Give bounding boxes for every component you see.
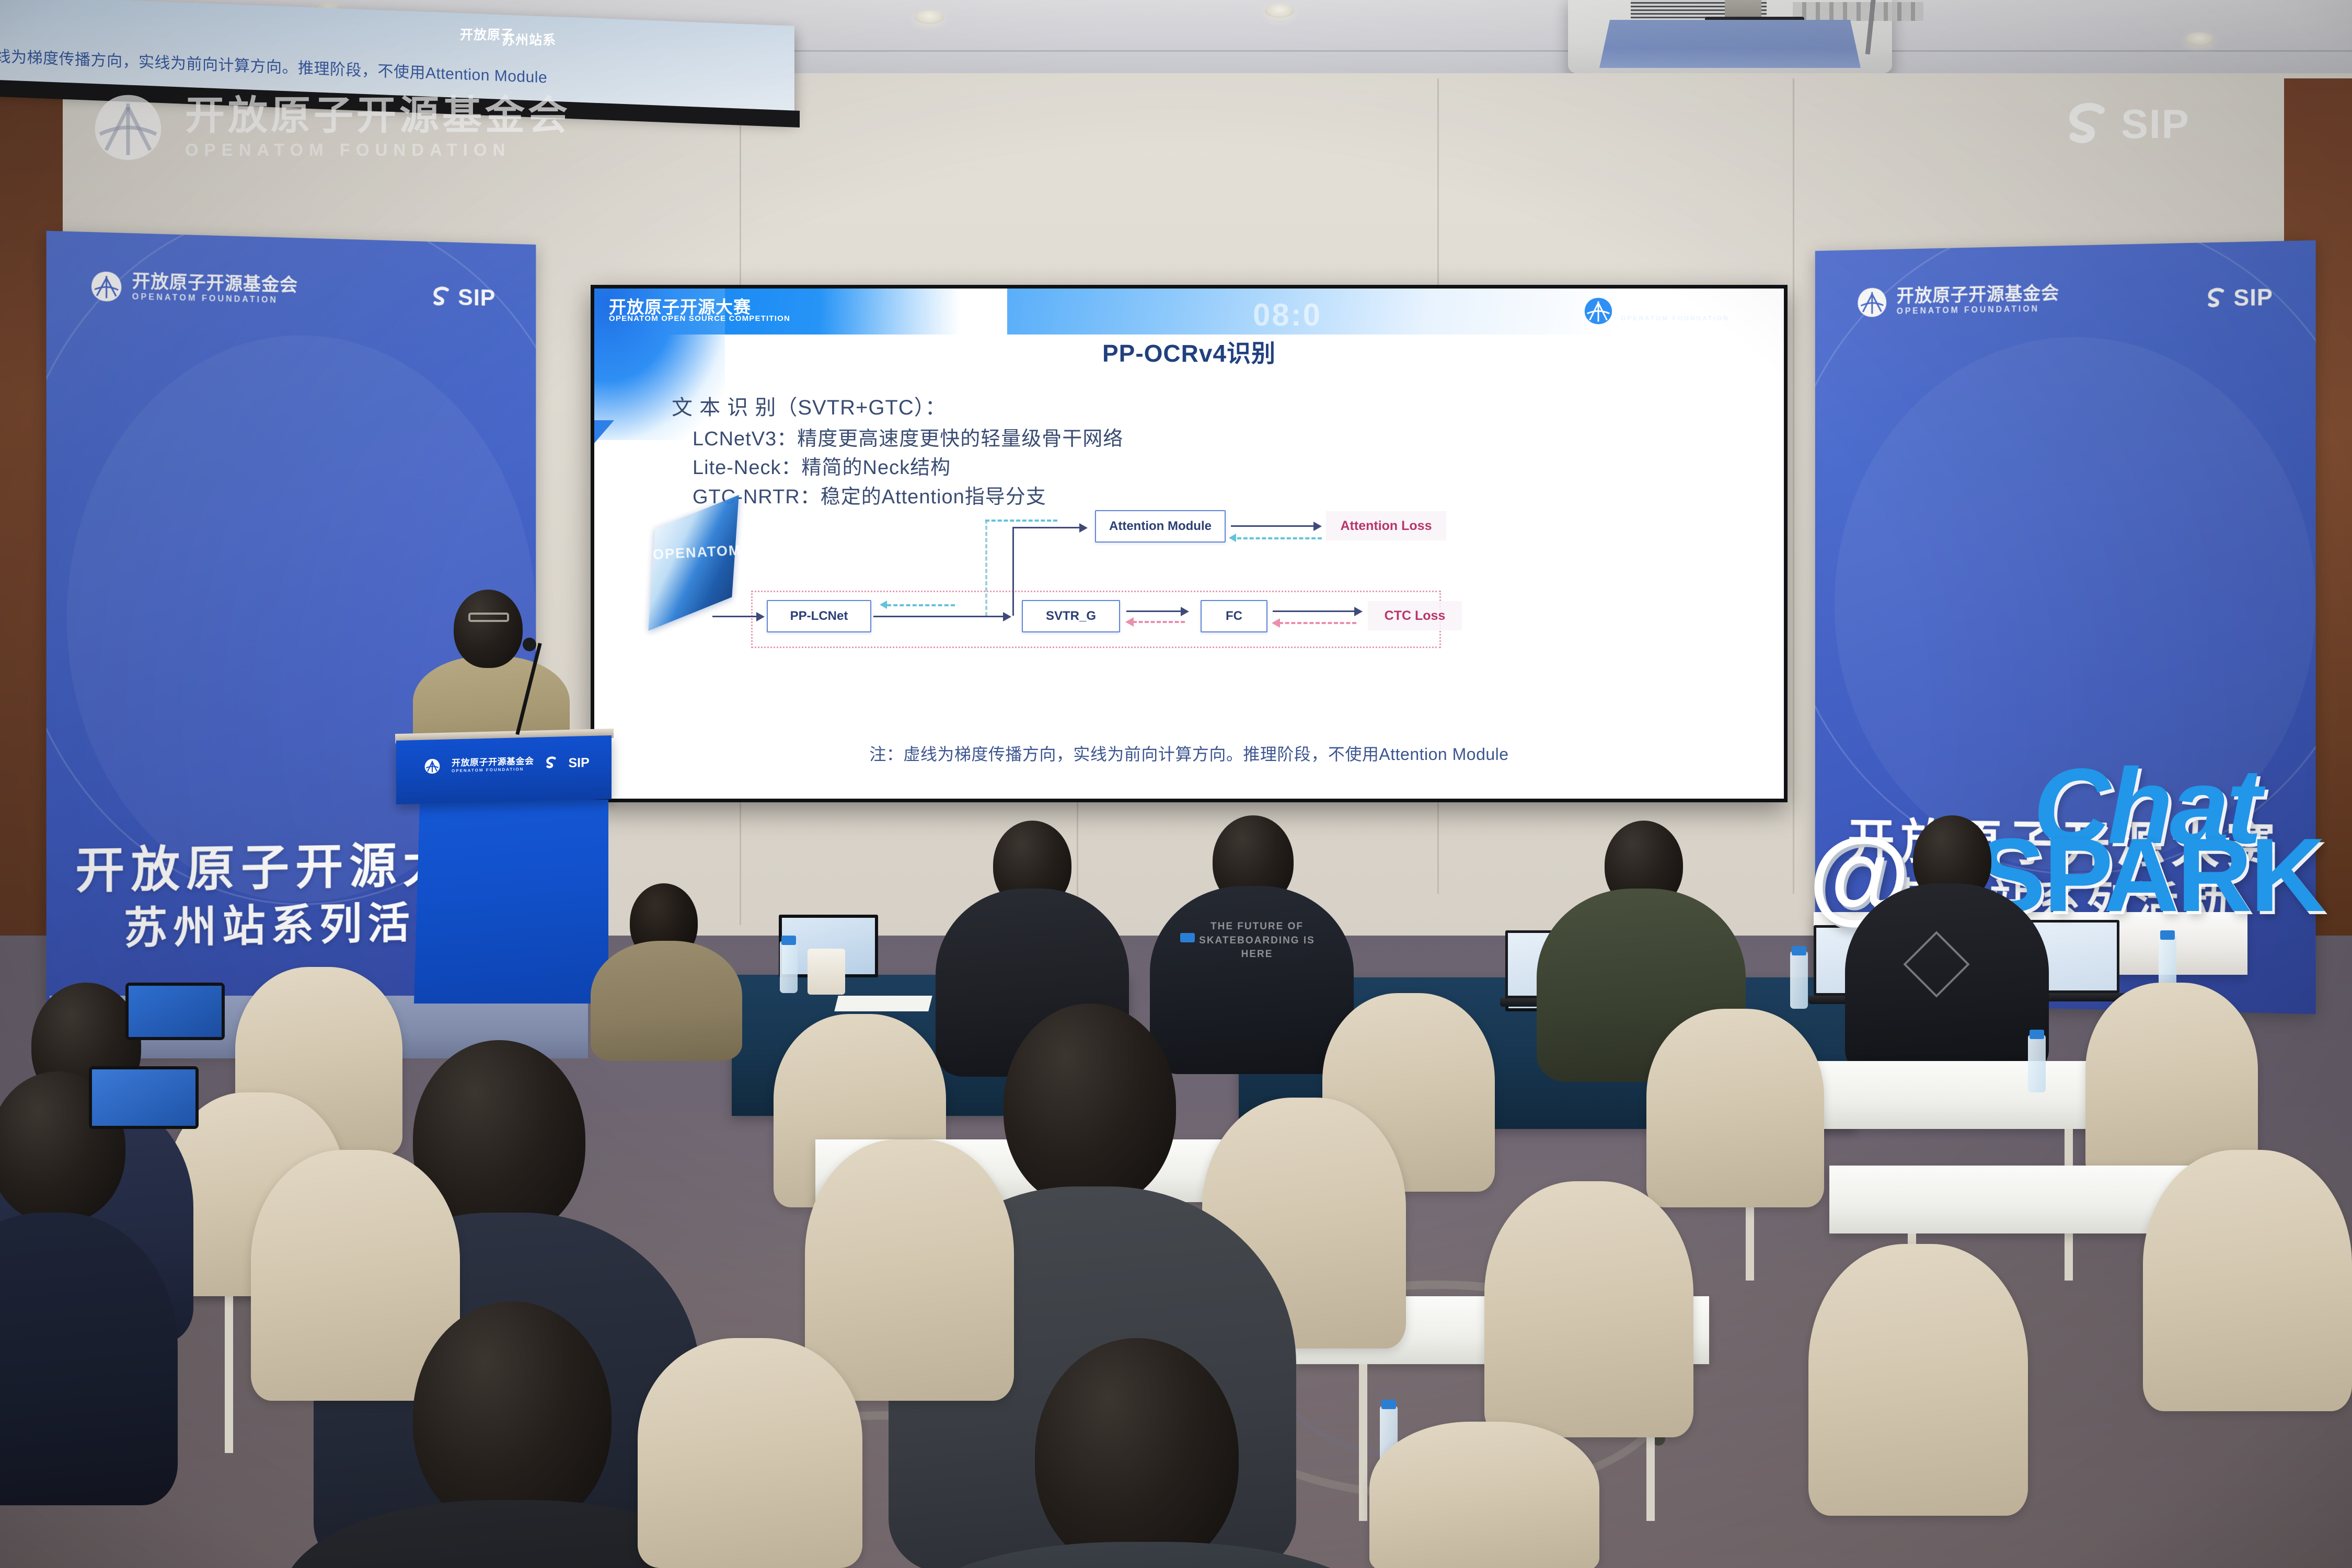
podium-vertical-text-right: 苏州站系 [502, 32, 556, 49]
table-leg [1359, 1364, 1367, 1521]
bottle-cap [2030, 1030, 2044, 1039]
openatom-logo-icon [423, 757, 441, 776]
speaker-glasses-icon [468, 613, 509, 622]
diagram-box-svtr-g: SVTR_G [1022, 600, 1120, 632]
watermark-sip: SIP [2065, 99, 2190, 149]
ceiling-projector [1568, 0, 1892, 73]
table-leg [225, 1296, 233, 1453]
diagram-gradient-path-pink [1133, 621, 1185, 623]
audience-shirt-text: THE FUTURE OF SKATEBOARDING IS HERE [1197, 920, 1317, 962]
shirt-text-line1: THE FUTURE OF [1197, 920, 1317, 934]
audience-body [1150, 886, 1354, 1074]
chair [1369, 1422, 1599, 1568]
diagram-gradient-path [985, 520, 987, 616]
chair [638, 1338, 862, 1568]
diagram-gradient-arrow [1229, 534, 1236, 542]
banner-right-logo: 开放原子开源基金会 OPENATOM FOUNDATION [1856, 282, 2059, 319]
slide-logo-en: OPENATOM FOUNDATION [1621, 315, 1753, 322]
slide-logo-text: 开放原子开源基金会 OPENATOM FOUNDATION [1621, 300, 1753, 322]
slide-body: 文 本 识 别（SVTR+GTC）： LCNetV3：精度更高速度更快的轻量级骨… [672, 390, 1123, 512]
slide-title: PP-OCRv4识别 [594, 335, 1784, 369]
diagram-gradient-path [1237, 537, 1322, 539]
banner-left-logo-text: 开放原子开源基金会 OPENATOM FOUNDATION [132, 272, 298, 306]
slide-logo: 开放原子开源基金会 OPENATOM FOUNDATION [1582, 295, 1753, 327]
diagram-box-fc: FC [1201, 600, 1267, 632]
bottle-cap [1180, 933, 1195, 942]
banner-left-sip-label: SIP [458, 285, 495, 312]
phone-held-up [125, 983, 225, 1040]
diagram-arrow-head [1079, 523, 1088, 533]
tea-mug [808, 949, 845, 995]
projector-ports [1793, 2, 1923, 21]
chair [1646, 1009, 1824, 1207]
projection-screen-frame: 开放原子开源大赛 OPENATOM OPEN SOURCE COMPETITIO… [591, 285, 1788, 802]
diagram-arrow-line [873, 616, 1004, 617]
audience-head-foreground [413, 1301, 612, 1531]
bottle-cap [1792, 946, 1806, 955]
banner-left-logo-cn: 开放原子开源基金会 [132, 272, 298, 295]
audience-head-foreground [1035, 1338, 1239, 1568]
slide-diagram: OPENATOM Attention Module Attention Loss [594, 508, 1784, 681]
banner-right-logo-text: 开放原子开源基金会 OPENATOM FOUNDATION [1897, 284, 2059, 317]
banner-right-sip-label: SIP [2233, 284, 2273, 312]
podium-top-panel: 开放原子开源基金会 OPENATOM FOUNDATION SIP [396, 735, 612, 804]
chair [805, 1139, 1014, 1401]
water-bottle [2028, 1035, 2046, 1092]
diagram-arrow-head [756, 612, 765, 621]
conference-photo-scene: 虚线为梯度传播方向，实线为前向计算方向。推理阶段，不使用Attention Mo… [0, 0, 2352, 1568]
sip-logo-icon [2065, 99, 2112, 149]
slide-lead: 文 本 识 别（SVTR+GTC）： [672, 390, 1123, 421]
projector-lens-face [1599, 20, 1861, 68]
downlight [2185, 32, 2214, 46]
bottle-cap [1381, 1400, 1396, 1409]
sip-logo-icon [545, 755, 558, 772]
shirt-text-line2: SKATEBOARDING IS HERE [1197, 934, 1317, 962]
diagram-branch-line [1012, 527, 1080, 528]
podium-body [414, 800, 608, 1004]
openatom-logo-icon [1856, 285, 1889, 319]
downlight [1265, 4, 1294, 18]
openatom-logo-icon [89, 269, 123, 304]
sip-logo-icon [431, 284, 453, 310]
diagram-gradient-path-pink [1279, 622, 1356, 624]
banner-right-logo-cn: 开放原子开源基金会 [1897, 284, 2059, 306]
diagram-loss-ctc: CTC Loss [1368, 601, 1462, 630]
chair [1484, 1181, 1693, 1437]
diagram-gradient-arrow-pink [1125, 617, 1134, 627]
banner-right-sip-logo: SIP [2205, 284, 2273, 312]
microphone-head-icon [523, 638, 536, 651]
diagram-arrow-line [712, 616, 757, 617]
podium-logo-text: 开放原子开源基金会 OPENATOM FOUNDATION [452, 756, 534, 774]
diagram-box-pp-lcnet: PP-LCNet [767, 600, 871, 632]
banner-left-logo: 开放原子开源基金会 OPENATOM FOUNDATION [89, 269, 298, 308]
slide-header-en: OPENATOM OPEN SOURCE COMPETITION [609, 314, 790, 323]
diagram-gradient-arrow [880, 601, 887, 609]
diagram-arrow-line [1273, 610, 1356, 612]
diagram-loss-attention: Attention Loss [1326, 511, 1446, 540]
slide-bullet: Lite-Neck：精简的Neck结构 [693, 454, 1123, 482]
diagram-box-attention-module: Attention Module [1095, 510, 1226, 543]
diagram-gradient-path [887, 604, 955, 606]
podium-logo-row: 开放原子开源基金会 OPENATOM FOUNDATION SIP [423, 754, 590, 776]
diagram-arrow-head [1181, 607, 1189, 616]
banner-right-logo-en: OPENATOM FOUNDATION [1897, 304, 2059, 316]
audience-body [591, 941, 742, 1061]
phone-held-up [89, 1066, 199, 1129]
wall-panel-seam [1793, 78, 1794, 894]
diagram-branch-line [1012, 527, 1014, 616]
diagram-gradient-arrow-pink [1272, 618, 1280, 628]
diagram-arrow-line [1126, 610, 1183, 612]
slide-note: 注：虚线为梯度传播方向，实线为前向计算方向。推理阶段，不使用Attention … [594, 741, 1784, 765]
diagram-arrow-head [1354, 607, 1363, 616]
banner-left-sip-logo: SIP [431, 284, 495, 312]
speaker-head [454, 590, 523, 668]
bottle-cap [781, 936, 796, 945]
paper-stack [834, 996, 932, 1011]
water-bottle [780, 941, 798, 993]
podium-logo-en: OPENATOM FOUNDATION [452, 767, 534, 774]
diagram-gradient-path [985, 520, 1057, 522]
slide-logo-cn: 开放原子开源基金会 [1621, 300, 1753, 315]
watermark-sip-label: SIP [2121, 100, 2190, 148]
phone-screen [92, 1069, 195, 1126]
diagram-arrow-line [1231, 525, 1315, 527]
downlight [915, 10, 944, 24]
slide-timer: 08:0 [1253, 297, 1322, 333]
projection-screen: 开放原子开源大赛 OPENATOM OPEN SOURCE COMPETITIO… [594, 289, 1784, 799]
diagram-arrow-head [1003, 612, 1011, 621]
sip-logo-icon [2205, 285, 2229, 312]
diagram-arrow-head [1313, 522, 1322, 531]
diagram-input-image [648, 495, 739, 631]
chair [2143, 1150, 2352, 1411]
podium-sip-label: SIP [569, 755, 590, 770]
chair [1808, 1244, 2028, 1516]
water-bottle [1790, 951, 1808, 1009]
phone-screen [129, 986, 222, 1037]
slide-bullet: LCNetV3：精度更高速度更快的轻量级骨干网络 [693, 425, 1123, 454]
audience-head-foreground [1004, 1004, 1176, 1207]
openatom-logo-icon [1582, 295, 1615, 327]
podium-logo-cn: 开放原子开源基金会 [452, 756, 534, 768]
slide-header-fade [819, 289, 1007, 335]
